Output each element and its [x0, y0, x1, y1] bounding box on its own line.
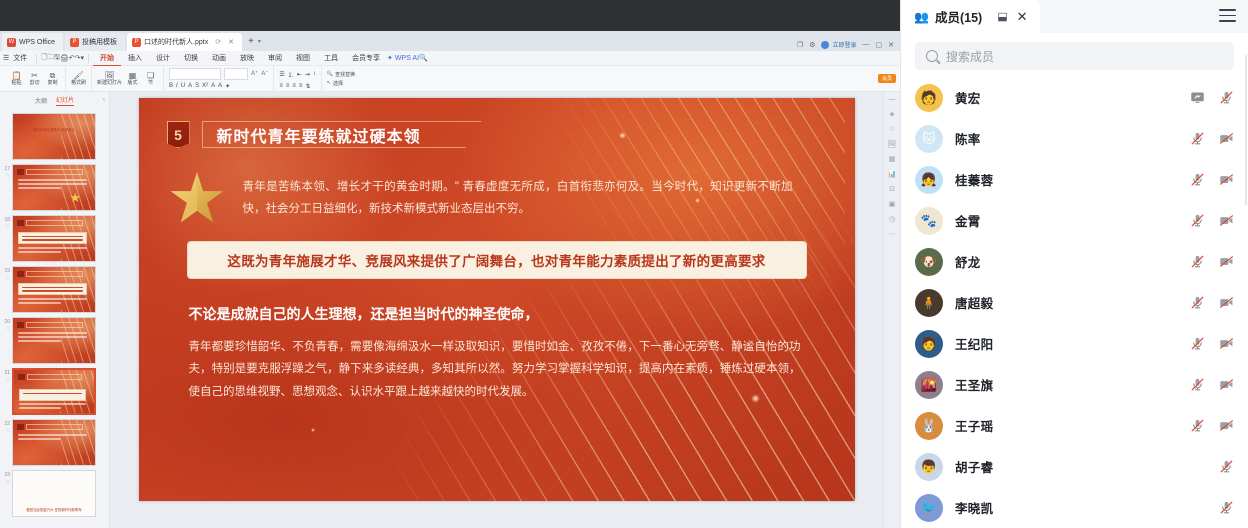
chevron-down-icon[interactable]: ▾	[258, 38, 261, 45]
list-item[interactable]: 17☆ ★	[0, 162, 109, 213]
thumb-text-line	[19, 403, 86, 405]
shape-icon[interactable]: ◈	[889, 110, 894, 118]
thumb-title-frame	[26, 322, 83, 328]
slide-subheading: 不论是成就自己的人生理想，还是担当时代的神圣使命，	[189, 304, 539, 324]
thumb-caption: 新时代青年要勇于 砥砺奋斗	[17, 128, 91, 133]
select-label: 选择	[333, 80, 343, 87]
avatar: 🌇	[915, 371, 943, 399]
divider	[88, 54, 89, 63]
number-list-icon[interactable]: ⒈	[288, 70, 294, 79]
camera-muted-icon[interactable]	[1219, 336, 1234, 351]
ribbon-tab-animation[interactable]: 动画	[205, 51, 233, 66]
slide-side-toolbar[interactable]: — ◈ ☆ 🖼 ▦ 📊 ⊡ ▣ ◷ ⋯	[883, 92, 900, 528]
image-icon[interactable]: 🖼	[888, 140, 897, 148]
member-row[interactable]: 🧑黄宏	[901, 77, 1248, 118]
search-input[interactable]: 搜索成员	[915, 42, 1234, 70]
cut-label: 剪切	[29, 81, 39, 87]
layout-label: 版式	[128, 81, 138, 87]
titlebar-actions: ❐ ⚙ 立即登录 — ▢ ✕	[797, 40, 900, 51]
search-placeholder: 搜索成员	[946, 48, 994, 65]
scrollbar[interactable]	[1245, 55, 1247, 205]
member-status-icons	[1190, 131, 1234, 146]
member-status-icons	[1190, 254, 1234, 269]
table-icon[interactable]: ▦	[889, 155, 896, 163]
slide-paragraph-1: 青年是苦练本领、增长才干的黄金时期。" 青春虚度无所成，白首衔悲亦何及。当今时代…	[243, 176, 793, 221]
new-slide-icon: 🖼	[104, 71, 114, 80]
thumb-number: 17☆	[2, 164, 10, 180]
slide-thumbnail[interactable]: 新时代青年要勇于 砥砺奋斗	[12, 113, 96, 160]
star-icon: ☆	[2, 377, 10, 384]
underline-button[interactable]: U	[181, 83, 185, 89]
thumb-text-line	[23, 393, 82, 394]
star-icon: ☆	[2, 275, 10, 282]
section-label: 节	[148, 81, 153, 87]
gear-icon[interactable]: ⚙	[809, 41, 815, 49]
new-slide-button[interactable]: 🖼 新建幻灯片	[97, 71, 122, 87]
member-list[interactable]: 🧑黄宏🐱陈率👧桂蓁蓉🐾金霄🐶舒龙🧍唐超毅🧑王纪阳🌇王圣旗🐰王子瑶👦胡子睿🐦李晓凯	[901, 77, 1248, 528]
ribbon-tab-review[interactable]: 审阅	[261, 51, 289, 66]
chart-icon[interactable]: 📊	[888, 170, 897, 178]
camera-muted-icon[interactable]	[1219, 254, 1234, 269]
wps-ai-button[interactable]: ✦ WPS AI	[387, 54, 419, 62]
microphone-muted-icon[interactable]	[1190, 377, 1205, 392]
chevron-down-icon[interactable]: ▾	[81, 54, 85, 62]
thumb-title-frame	[26, 169, 83, 175]
member-status-icons	[1219, 459, 1234, 474]
search-icon: 🔍	[327, 71, 333, 77]
file-menu-icon[interactable]: ☰	[3, 54, 9, 62]
minimize-button[interactable]: —	[863, 41, 870, 48]
ribbon-tab-member[interactable]: 会员专享	[345, 51, 387, 66]
paste-button[interactable]: 📋 粘贴	[9, 71, 24, 87]
camera-muted-icon[interactable]	[1219, 172, 1234, 187]
microphone-muted-icon[interactable]	[1190, 131, 1205, 146]
quick-access-toolbar: ☰ 文件	[3, 53, 32, 63]
member-status-icons	[1190, 418, 1234, 433]
thumb-text-line	[18, 187, 61, 189]
list-item[interactable]: 18☆	[0, 213, 109, 264]
avatar: 👦	[915, 453, 943, 481]
slide-paragraph-2: 青年都要珍惜韶华、不负青春，需要像海绵汲水一样汲取知识，要惜时如金、孜孜不倦，下…	[189, 336, 801, 403]
app-tab-label: 口述的时代新人.pptx	[144, 37, 208, 47]
ribbon-tab-view[interactable]: 视图	[289, 51, 317, 66]
screen-share-icon[interactable]	[1190, 90, 1205, 105]
superscript-button[interactable]: X²	[202, 83, 208, 89]
camera-muted-icon[interactable]	[1219, 418, 1234, 433]
star-icon: ☆	[2, 428, 10, 435]
slide-title-frame: 新时代青年要练就过硬本领	[202, 121, 482, 148]
font-size-input[interactable]	[224, 68, 248, 80]
member-name: 金霄	[955, 211, 981, 230]
thumb-text-line	[18, 340, 61, 342]
format-painter-label: 格式刷	[71, 81, 86, 87]
cut-button[interactable]: ✂ 剪切	[27, 71, 42, 87]
section-button[interactable]: ❏ 节	[143, 71, 158, 87]
slide-thumbnail[interactable]: 做担当民族复兴大 任的新时代新青年	[12, 470, 96, 517]
member-row[interactable]: 👦胡子睿	[901, 446, 1248, 487]
slide-thumbnail[interactable]	[12, 317, 96, 364]
paragraph-row-2: ≡ ≡ ≡ ≡ ⇅	[279, 83, 315, 90]
avatar: 🧑	[915, 84, 943, 112]
thumb-caption: 做担当民族复兴大 任的新时代新青年	[17, 508, 91, 513]
thumbnails-tabs: 大纲 幻灯片 ‹	[0, 92, 109, 108]
member-badge[interactable]: 会员	[878, 74, 896, 83]
thumb-title-frame	[27, 374, 82, 380]
app-tab-active-document[interactable]: P 口述的时代新人.pptx ⟳ ✕	[127, 33, 242, 51]
thumb-number: 18☆	[2, 215, 10, 231]
cut-icon: ✂	[31, 71, 38, 80]
tab-slides[interactable]: 幻灯片	[56, 95, 74, 106]
ribbon-tab-insert[interactable]: 插入	[121, 51, 149, 66]
copy-icon: ⧉	[50, 71, 56, 80]
member-name: 王圣旗	[955, 375, 993, 394]
avatar: 🐰	[915, 412, 943, 440]
star-graphic-icon: ★	[69, 191, 81, 204]
font-color-button[interactable]: A	[218, 83, 222, 89]
close-window-button[interactable]: ✕	[888, 41, 894, 49]
star-icon: ☆	[2, 173, 10, 180]
avatar: 🧑	[915, 330, 943, 358]
thumb-highlight-box	[18, 283, 87, 295]
thumb-text-line	[18, 302, 61, 304]
wps-ai-label: WPS AI	[395, 55, 419, 62]
thumb-badge	[17, 322, 24, 328]
thumbnails-list[interactable]: 新时代青年要勇于 砥砺奋斗 17☆	[0, 108, 109, 528]
minus-icon[interactable]: —	[889, 96, 896, 103]
slide-highlight-text: 这既为青年施展才华、竞展风来提供了广阔舞台，也对青年能力素质提出了新的更高要求	[227, 250, 765, 270]
format-painter-group: 🖌 格式刷	[65, 66, 91, 91]
slide-thumbnail-selected[interactable]	[12, 368, 96, 415]
thumb-number: 23☆	[2, 470, 10, 486]
slide-number-badge: 5	[167, 121, 190, 148]
microphone-muted-icon[interactable]	[1190, 336, 1205, 351]
ribbon-tab-design[interactable]: 设计	[149, 51, 177, 66]
search-icon[interactable]: 🔍	[419, 54, 428, 62]
format-painter-icon: 🖌	[73, 71, 83, 80]
member-name: 桂蓁蓉	[955, 170, 993, 189]
member-name: 李晓凯	[955, 498, 993, 517]
screen-share-top-strip	[0, 0, 900, 31]
avatar: 🐾	[915, 207, 943, 235]
thumb-text-line	[18, 247, 87, 249]
thumb-body	[18, 332, 87, 356]
microphone-muted-icon[interactable]	[1190, 295, 1205, 310]
search-icon	[926, 50, 938, 62]
slide-canvas-area[interactable]: 5 新时代青年要练就过硬本领	[110, 92, 883, 528]
thumb-text-line	[22, 236, 83, 237]
hamburger-line	[1219, 9, 1236, 11]
align-justify-icon[interactable]: ≡	[299, 83, 303, 89]
thumb-body	[19, 403, 86, 414]
ribbon-tab-transition[interactable]: 切换	[177, 51, 205, 66]
member-row[interactable]: 👧桂蓁蓉	[901, 159, 1248, 200]
microphone-muted-icon[interactable]	[1219, 459, 1234, 474]
indent-decrease-icon[interactable]: ⇤	[297, 71, 302, 78]
align-left-icon[interactable]: ≡	[279, 83, 283, 89]
sparkle-icon	[311, 428, 315, 432]
file-menu-label[interactable]: 文件	[13, 53, 27, 63]
clear-format-button[interactable]: ✦	[225, 83, 230, 90]
print-icon[interactable]: 🖨	[60, 54, 69, 62]
thumb-number	[2, 113, 10, 115]
slide-thumbnail[interactable]	[12, 419, 96, 466]
wps-logo-icon: W	[7, 38, 16, 47]
increase-font-icon[interactable]: A⁺	[251, 70, 258, 77]
star-icon: ☆	[2, 479, 10, 486]
ribbon-toolbar: 📋 粘贴 ✂ 剪切 ⧉ 复制 🖌 格式刷	[0, 66, 900, 92]
list-item[interactable]: 新时代青年要勇于 砥砺奋斗	[0, 111, 109, 162]
thumb-number: 22☆	[2, 419, 10, 435]
popout-icon[interactable]: ⬓	[997, 10, 1007, 23]
new-slide-label: 新建幻灯片	[97, 81, 122, 87]
list-item[interactable]: 20☆	[0, 315, 109, 366]
star-icon: ☆	[2, 326, 10, 333]
hamburger-line	[1219, 20, 1236, 22]
member-name: 舒龙	[955, 252, 981, 271]
paste-label: 粘贴	[11, 81, 21, 87]
member-name: 陈率	[955, 129, 981, 148]
thumb-number: 20☆	[2, 317, 10, 333]
editing-group: 🔍 查找替换 ↖ 选择	[321, 66, 360, 91]
star-graphic-icon	[169, 171, 225, 225]
microphone-muted-icon[interactable]	[1190, 213, 1205, 228]
list-item[interactable]: 21☆	[0, 366, 109, 417]
slide-highlight-box[interactable]: 这既为青年施展才华、竞展风来提供了广阔舞台，也对青年能力素质提出了新的更高要求	[187, 241, 807, 279]
microphone-muted-icon[interactable]	[1190, 254, 1205, 269]
member-row[interactable]: 🧍唐超毅	[901, 282, 1248, 323]
ribbon-menu-bar: ☰ 文件 🗋 🗀 🖫 🖨 ↶ ↷ ▾ 开始 插入 设计 切换 动画 放映 审阅 …	[0, 51, 900, 66]
microphone-muted-icon[interactable]	[1219, 500, 1234, 515]
thumb-lines	[61, 114, 96, 159]
more-icon[interactable]: ⋯	[889, 230, 896, 238]
thumb-text-line	[18, 298, 87, 300]
close-icon[interactable]: ✕	[1017, 9, 1028, 25]
member-status-icons	[1190, 377, 1234, 392]
member-status-icons	[1190, 213, 1234, 228]
find-replace-label: 查找替换	[335, 71, 355, 78]
avatar: 🐶	[915, 248, 943, 276]
members-panel: 👥 成员(15) ⬓ ✕ 搜索成员 🧑黄宏🐱陈率👧桂蓁蓉🐾金霄🐶舒龙🧍唐超毅🧑王…	[900, 0, 1248, 528]
thumb-text-line	[18, 434, 87, 436]
paragraph-row-1: ☰ ⒈ ⇤ ⇥ ↕	[279, 70, 315, 79]
section-icon: ❏	[147, 71, 154, 80]
italic-button[interactable]: I	[176, 83, 178, 89]
font-group: A⁺ A⁻ B I U A S X² A A ✦	[163, 66, 273, 91]
member-row[interactable]: 🐱陈率	[901, 118, 1248, 159]
bullet-list-icon[interactable]: ☰	[279, 71, 284, 78]
thumb-text-line	[18, 251, 61, 253]
slide-thumbnails-panel: 大纲 幻灯片 ‹ 新时代青年要勇于 砥砺奋斗 17☆	[0, 92, 110, 528]
app-tab-label: 投稿用模板	[82, 37, 117, 47]
member-status-icons	[1190, 90, 1234, 105]
thumb-title-frame	[26, 220, 83, 226]
copy-label: 复制	[47, 81, 57, 87]
search-area: 搜索成员	[901, 33, 1248, 77]
clock-icon[interactable]: ◷	[889, 215, 895, 223]
open-file-icon[interactable]: 🗀	[47, 53, 54, 64]
format-painter-button[interactable]: 🖌 格式刷	[71, 71, 86, 87]
text-highlight-button[interactable]: A	[211, 83, 215, 89]
camera-muted-icon[interactable]	[1219, 131, 1234, 146]
member-status-icons	[1190, 295, 1234, 310]
thumb-text-line	[19, 407, 61, 409]
hamburger-icon[interactable]	[1219, 9, 1236, 26]
ppt-file-icon: P	[70, 38, 79, 47]
account-label: 立即登录	[832, 40, 856, 49]
current-slide[interactable]: 5 新时代青年要练就过硬本领	[139, 98, 855, 501]
slide-thumbnail[interactable]	[12, 215, 96, 262]
divider	[36, 54, 37, 63]
ai-sparkle-icon: ✦	[387, 54, 393, 62]
thumb-text-line	[22, 290, 83, 291]
thumb-text-line	[18, 332, 87, 334]
indent-increase-icon[interactable]: ⇥	[305, 71, 310, 78]
ribbon-tab-tools[interactable]: 工具	[317, 51, 345, 66]
thumb-text-line	[18, 183, 87, 185]
thumb-badge	[17, 424, 24, 430]
chevron-left-icon[interactable]: ‹	[103, 97, 105, 103]
avatar: 🐱	[915, 125, 943, 153]
members-icon: 👥	[914, 10, 929, 24]
member-name: 唐超毅	[955, 293, 993, 312]
microphone-muted-icon[interactable]	[1219, 90, 1234, 105]
panel-tab-members[interactable]: 👥 成员(15) ⬓ ✕	[901, 0, 1040, 33]
strikethrough-button[interactable]: S	[195, 83, 199, 89]
member-status-icons	[1190, 336, 1234, 351]
avatar	[821, 41, 829, 49]
copy-button[interactable]: ⧉ 复制	[45, 71, 60, 87]
thumb-badge	[18, 374, 25, 380]
star-icon: ☆	[2, 224, 10, 231]
hamburger-line	[1219, 15, 1236, 17]
thumb-body	[18, 434, 87, 458]
thumb-text-line	[22, 239, 83, 240]
member-name: 王纪阳	[955, 334, 993, 353]
list-item[interactable]: 22☆	[0, 417, 109, 468]
layout-button[interactable]: ▦ 版式	[125, 71, 140, 87]
decrease-font-icon[interactable]: A⁻	[261, 70, 268, 77]
avatar: 🧍	[915, 289, 943, 317]
ribbon-tab-start[interactable]: 开始	[93, 51, 121, 66]
thumb-text-line	[18, 336, 87, 338]
star-icon[interactable]: ☆	[889, 125, 895, 133]
font-name-input[interactable]	[169, 68, 221, 80]
find-replace-button[interactable]: 🔍 查找替换	[327, 71, 355, 78]
camera-muted-icon[interactable]	[1219, 377, 1234, 392]
layout-icon: ▦	[129, 71, 137, 80]
account-button[interactable]: 立即登录	[821, 40, 856, 49]
sparkle-icon	[619, 132, 626, 139]
bold-button[interactable]: B	[169, 83, 173, 89]
thumb-title-frame	[26, 424, 83, 430]
panel-header: 👥 成员(15) ⬓ ✕	[901, 0, 1248, 33]
line-spacing-icon[interactable]: ↕	[313, 71, 316, 77]
slide-thumbnail[interactable]: ★	[12, 164, 96, 211]
list-item[interactable]: 23☆ 做担当民族复兴大 任的新时代新青年	[0, 468, 109, 519]
refresh-icon[interactable]: ⟳	[215, 38, 221, 46]
page-title: 新时代青年要练就过硬本领	[217, 123, 421, 147]
member-row[interactable]: 🐰王子瑶	[901, 405, 1248, 446]
camera-muted-icon[interactable]	[1219, 295, 1234, 310]
wps-office-window: W WPS Office P 投稿用模板 P 口述的时代新人.pptx ⟳ ✕ …	[0, 0, 900, 528]
slide-thumbnail[interactable]	[12, 266, 96, 313]
thumb-badge	[17, 169, 24, 175]
list-item[interactable]: 19☆	[0, 264, 109, 315]
member-row[interactable]: 🌇王圣旗	[901, 364, 1248, 405]
clipboard-group: 📋 粘贴 ✂ 剪切 ⧉ 复制	[4, 66, 65, 91]
text-direction-icon[interactable]: ⇅	[305, 83, 310, 90]
slide-group: 🖼 新建幻灯片 ▦ 版式 ❏ 节	[91, 66, 163, 91]
avatar: 🐦	[915, 494, 943, 522]
app-tab-label: WPS Office	[19, 39, 55, 46]
thumb-badge	[17, 271, 24, 277]
font-format-row: B I U A S X² A A ✦	[169, 83, 268, 90]
thumb-highlight-box	[19, 389, 86, 401]
thumb-highlight-box	[18, 232, 87, 244]
align-right-icon[interactable]: ≡	[292, 83, 296, 89]
thumb-body	[18, 298, 87, 310]
new-tab-button[interactable]: +	[244, 36, 258, 47]
cursor-icon: ↖	[327, 80, 331, 86]
maximize-button[interactable]: ▢	[876, 41, 883, 49]
tab-outline[interactable]: 大纲	[35, 96, 47, 105]
slide-title-block[interactable]: 5 新时代青年要练就过硬本领	[167, 121, 482, 148]
text-effect-button[interactable]: A	[188, 83, 192, 89]
panel-title: 成员(15)	[935, 7, 982, 26]
camera-muted-icon[interactable]	[1219, 213, 1234, 228]
avatar: 👧	[915, 166, 943, 194]
thumb-body	[18, 247, 87, 259]
thumb-number: 19☆	[2, 266, 10, 282]
ribbon-right-actions: 会员	[878, 74, 896, 83]
member-row[interactable]: 🐶舒龙	[901, 241, 1248, 282]
member-name: 黄宏	[955, 88, 981, 107]
paragraph-group: ☰ ⒈ ⇤ ⇥ ↕ ≡ ≡ ≡ ≡ ⇅	[273, 66, 320, 91]
paste-icon: 📋	[12, 71, 22, 80]
thumb-text-line	[22, 287, 83, 288]
app-tab-home[interactable]: W WPS Office	[2, 33, 63, 51]
member-row[interactable]: 🐾金霄	[901, 200, 1248, 241]
thumb-text-line	[18, 179, 87, 181]
media-icon[interactable]: ▣	[889, 200, 896, 208]
member-row[interactable]: 🧑王纪阳	[901, 323, 1248, 364]
text-icon[interactable]: ⊡	[889, 185, 895, 193]
work-area: 大纲 幻灯片 ‹ 新时代青年要勇于 砥砺奋斗 17☆	[0, 92, 900, 528]
close-icon[interactable]: ✕	[228, 38, 234, 46]
align-center-icon[interactable]: ≡	[286, 83, 290, 89]
thumb-badge	[17, 220, 24, 226]
select-button[interactable]: ↖ 选择	[327, 80, 355, 87]
member-row[interactable]: 🐦李晓凯	[901, 487, 1248, 528]
ppt-file-icon: P	[132, 38, 141, 47]
thumb-text-line	[18, 438, 61, 440]
ribbon-tab-slideshow[interactable]: 放映	[233, 51, 261, 66]
thumb-number: 21☆	[2, 368, 10, 384]
member-name: 王子瑶	[955, 416, 993, 435]
window-snap-icon[interactable]: ❐	[797, 41, 803, 49]
thumb-title-frame	[26, 271, 83, 277]
microphone-muted-icon[interactable]	[1190, 172, 1205, 187]
microphone-muted-icon[interactable]	[1190, 418, 1205, 433]
app-tab-template[interactable]: P 投稿用模板	[65, 33, 125, 51]
member-status-icons	[1219, 500, 1234, 515]
member-status-icons	[1190, 172, 1234, 187]
app-tab-bar: W WPS Office P 投稿用模板 P 口述的时代新人.pptx ⟳ ✕ …	[0, 31, 900, 51]
member-name: 胡子睿	[955, 457, 993, 476]
